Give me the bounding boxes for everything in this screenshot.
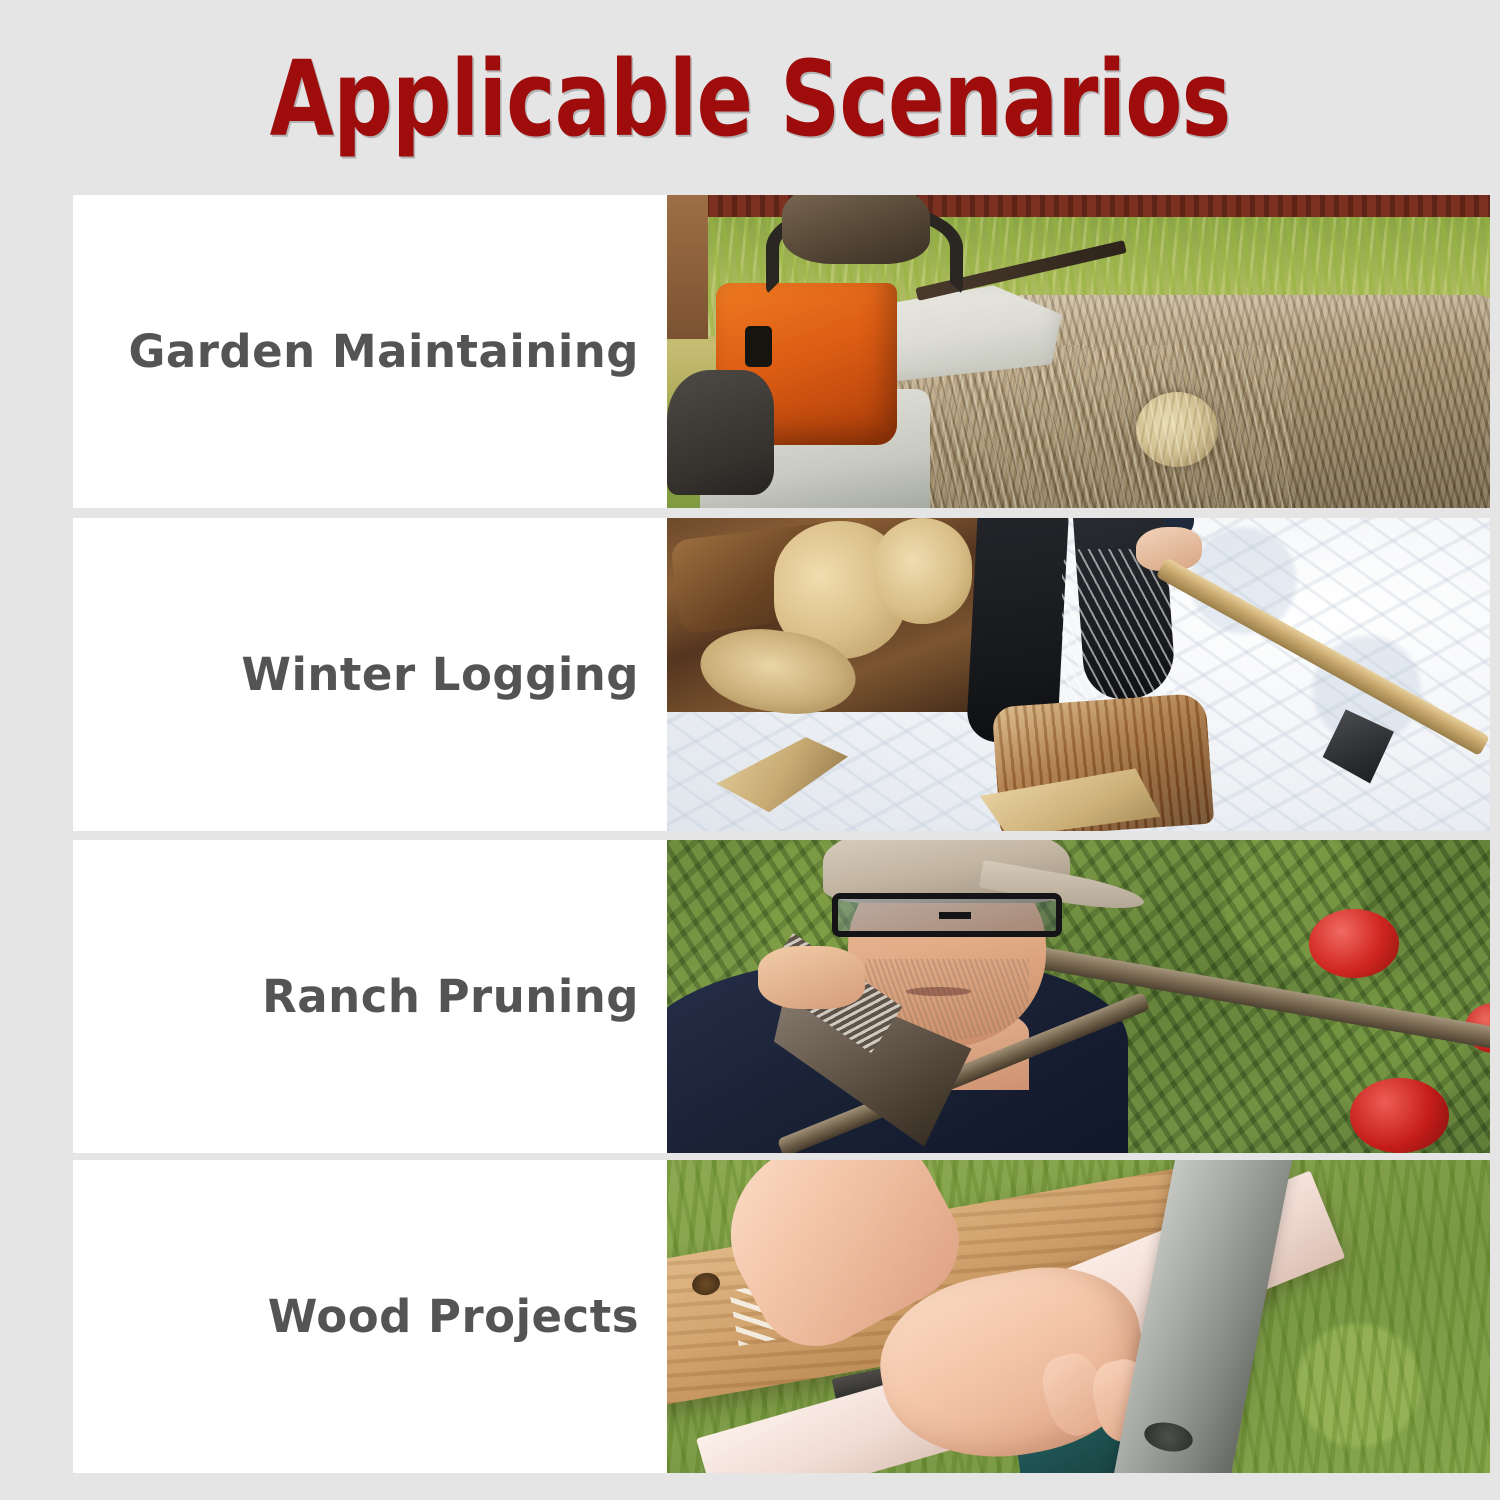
scenario-label-cell: Garden Maintaining — [73, 195, 667, 508]
scenario-photo-chainsaw-cutting-log — [667, 195, 1490, 508]
apple-upper-right — [1309, 909, 1400, 978]
scenario-label: Winter Logging — [241, 649, 639, 701]
operator-glove-lower — [667, 370, 774, 495]
scenario-label-cell: Winter Logging — [73, 518, 667, 831]
scenario-label: Garden Maintaining — [128, 326, 639, 378]
person-fist — [758, 946, 865, 1009]
chainsaw-vent-slot — [745, 326, 771, 367]
scenario-row-garden-maintaining: Garden Maintaining — [73, 195, 1490, 508]
operator-arm — [667, 195, 708, 339]
scenario-row-ranch-pruning: Ranch Pruning — [73, 840, 1490, 1153]
scenario-photo-winter-logging — [667, 518, 1490, 831]
scenario-label: Ranch Pruning — [262, 971, 639, 1023]
scenario-photo-ranch-pruning — [667, 840, 1490, 1153]
scenario-photo-wood-projects — [667, 1160, 1490, 1473]
scenario-row-winter-logging: Winter Logging — [73, 518, 1490, 831]
glasses-bridge — [939, 912, 972, 920]
page-title: Applicable Scenarios — [150, 46, 1350, 152]
scenario-label-cell: Ranch Pruning — [73, 840, 667, 1153]
scenario-label: Wood Projects — [268, 1291, 639, 1343]
apple-lower-right — [1350, 1078, 1449, 1153]
log-cut-face-small — [873, 518, 972, 624]
operator-glove-upper — [782, 195, 930, 264]
scenario-row-wood-projects: Wood Projects — [73, 1160, 1490, 1473]
scenario-label-cell: Wood Projects — [73, 1160, 667, 1473]
